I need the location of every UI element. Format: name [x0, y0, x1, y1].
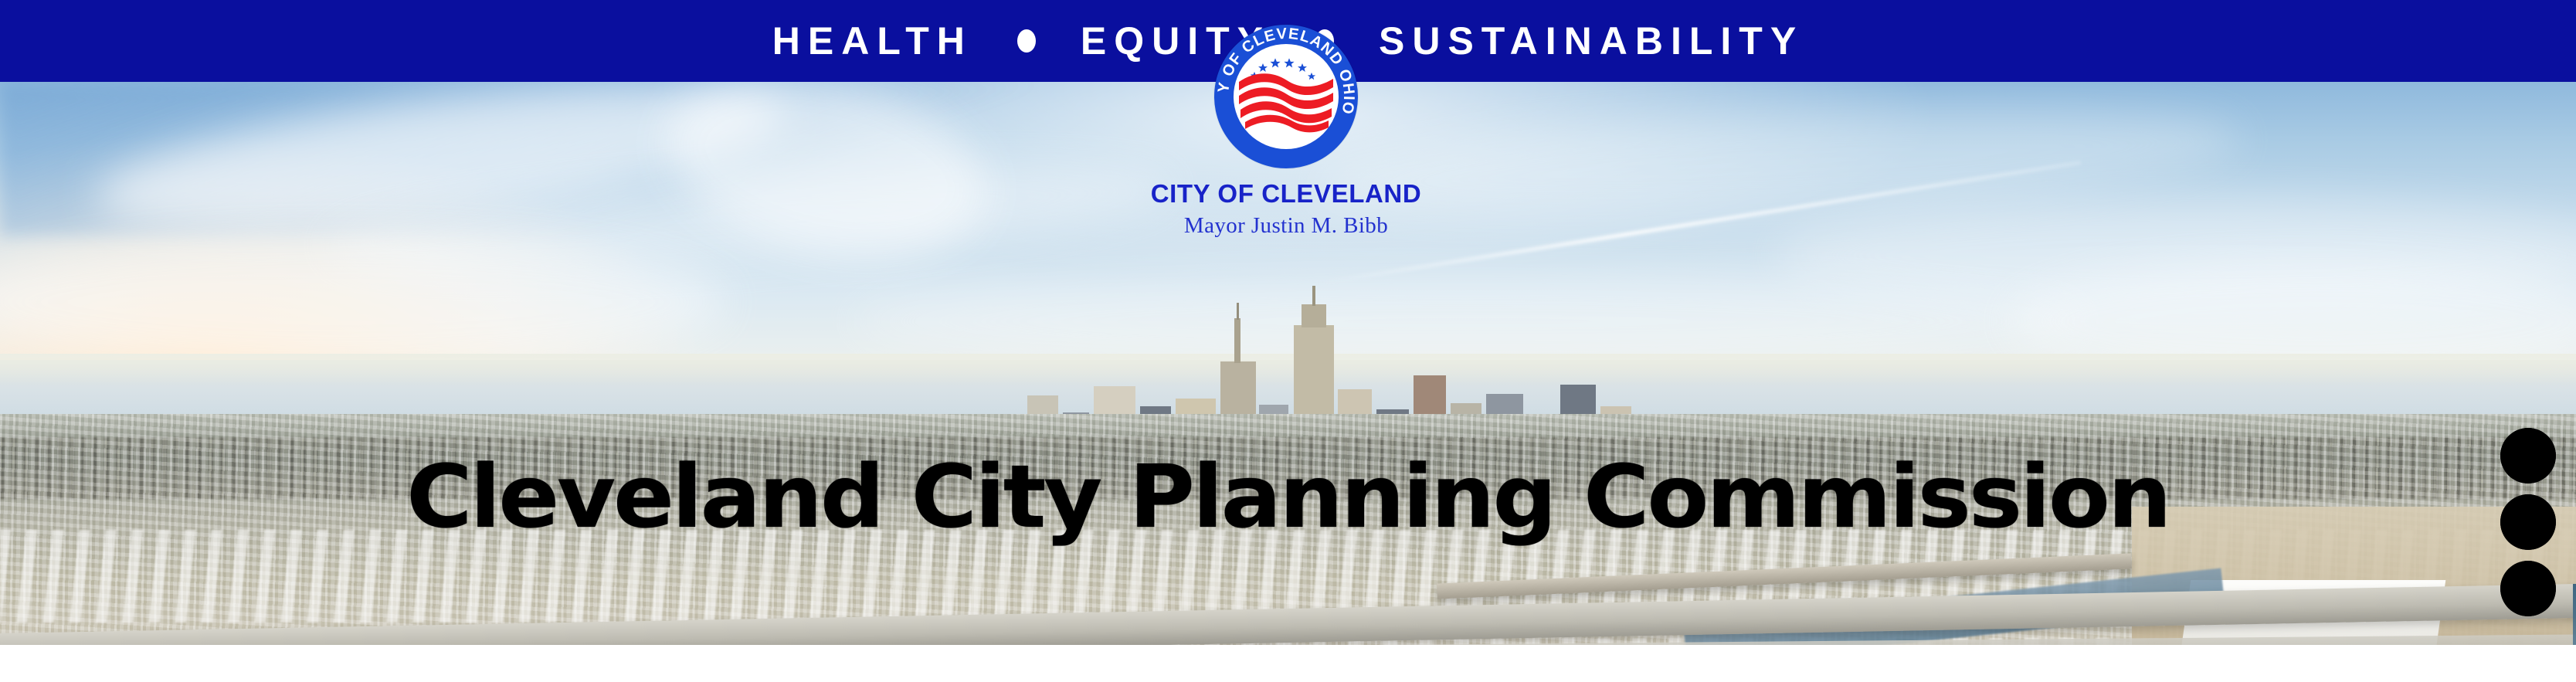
instagram-glyph	[2500, 494, 2556, 550]
social-links[interactable]	[2500, 428, 2561, 627]
youtube-icon[interactable]	[2500, 428, 2556, 484]
bottom-whitespace	[0, 645, 2576, 682]
tagline-word-health: HEALTH	[772, 22, 972, 60]
cloud	[0, 236, 726, 368]
logo-subtitle-mayor: Mayor Justin M. Bibb	[1124, 213, 1448, 239]
facebook-icon[interactable]	[2500, 561, 2556, 616]
tagline-separator-dot-1	[1017, 29, 1036, 53]
city-logo-block: CITY OF CLEVELAND OHIO	[1124, 25, 1448, 256]
city-of-cleveland-seal-icon: CITY OF CLEVELAND OHIO	[1214, 25, 1358, 168]
facebook-glyph	[2500, 561, 2556, 616]
youtube-glyph	[2500, 428, 2556, 484]
seal-flag-icon	[1237, 66, 1335, 133]
photo-right-edge	[2573, 584, 2576, 645]
foreground-city	[0, 414, 2576, 645]
page-root: HEALTH EQUITY SUSTAINABILITY	[0, 0, 2576, 682]
logo-title: CITY OF CLEVELAND	[1124, 179, 1448, 209]
instagram-icon[interactable]	[2500, 494, 2556, 550]
